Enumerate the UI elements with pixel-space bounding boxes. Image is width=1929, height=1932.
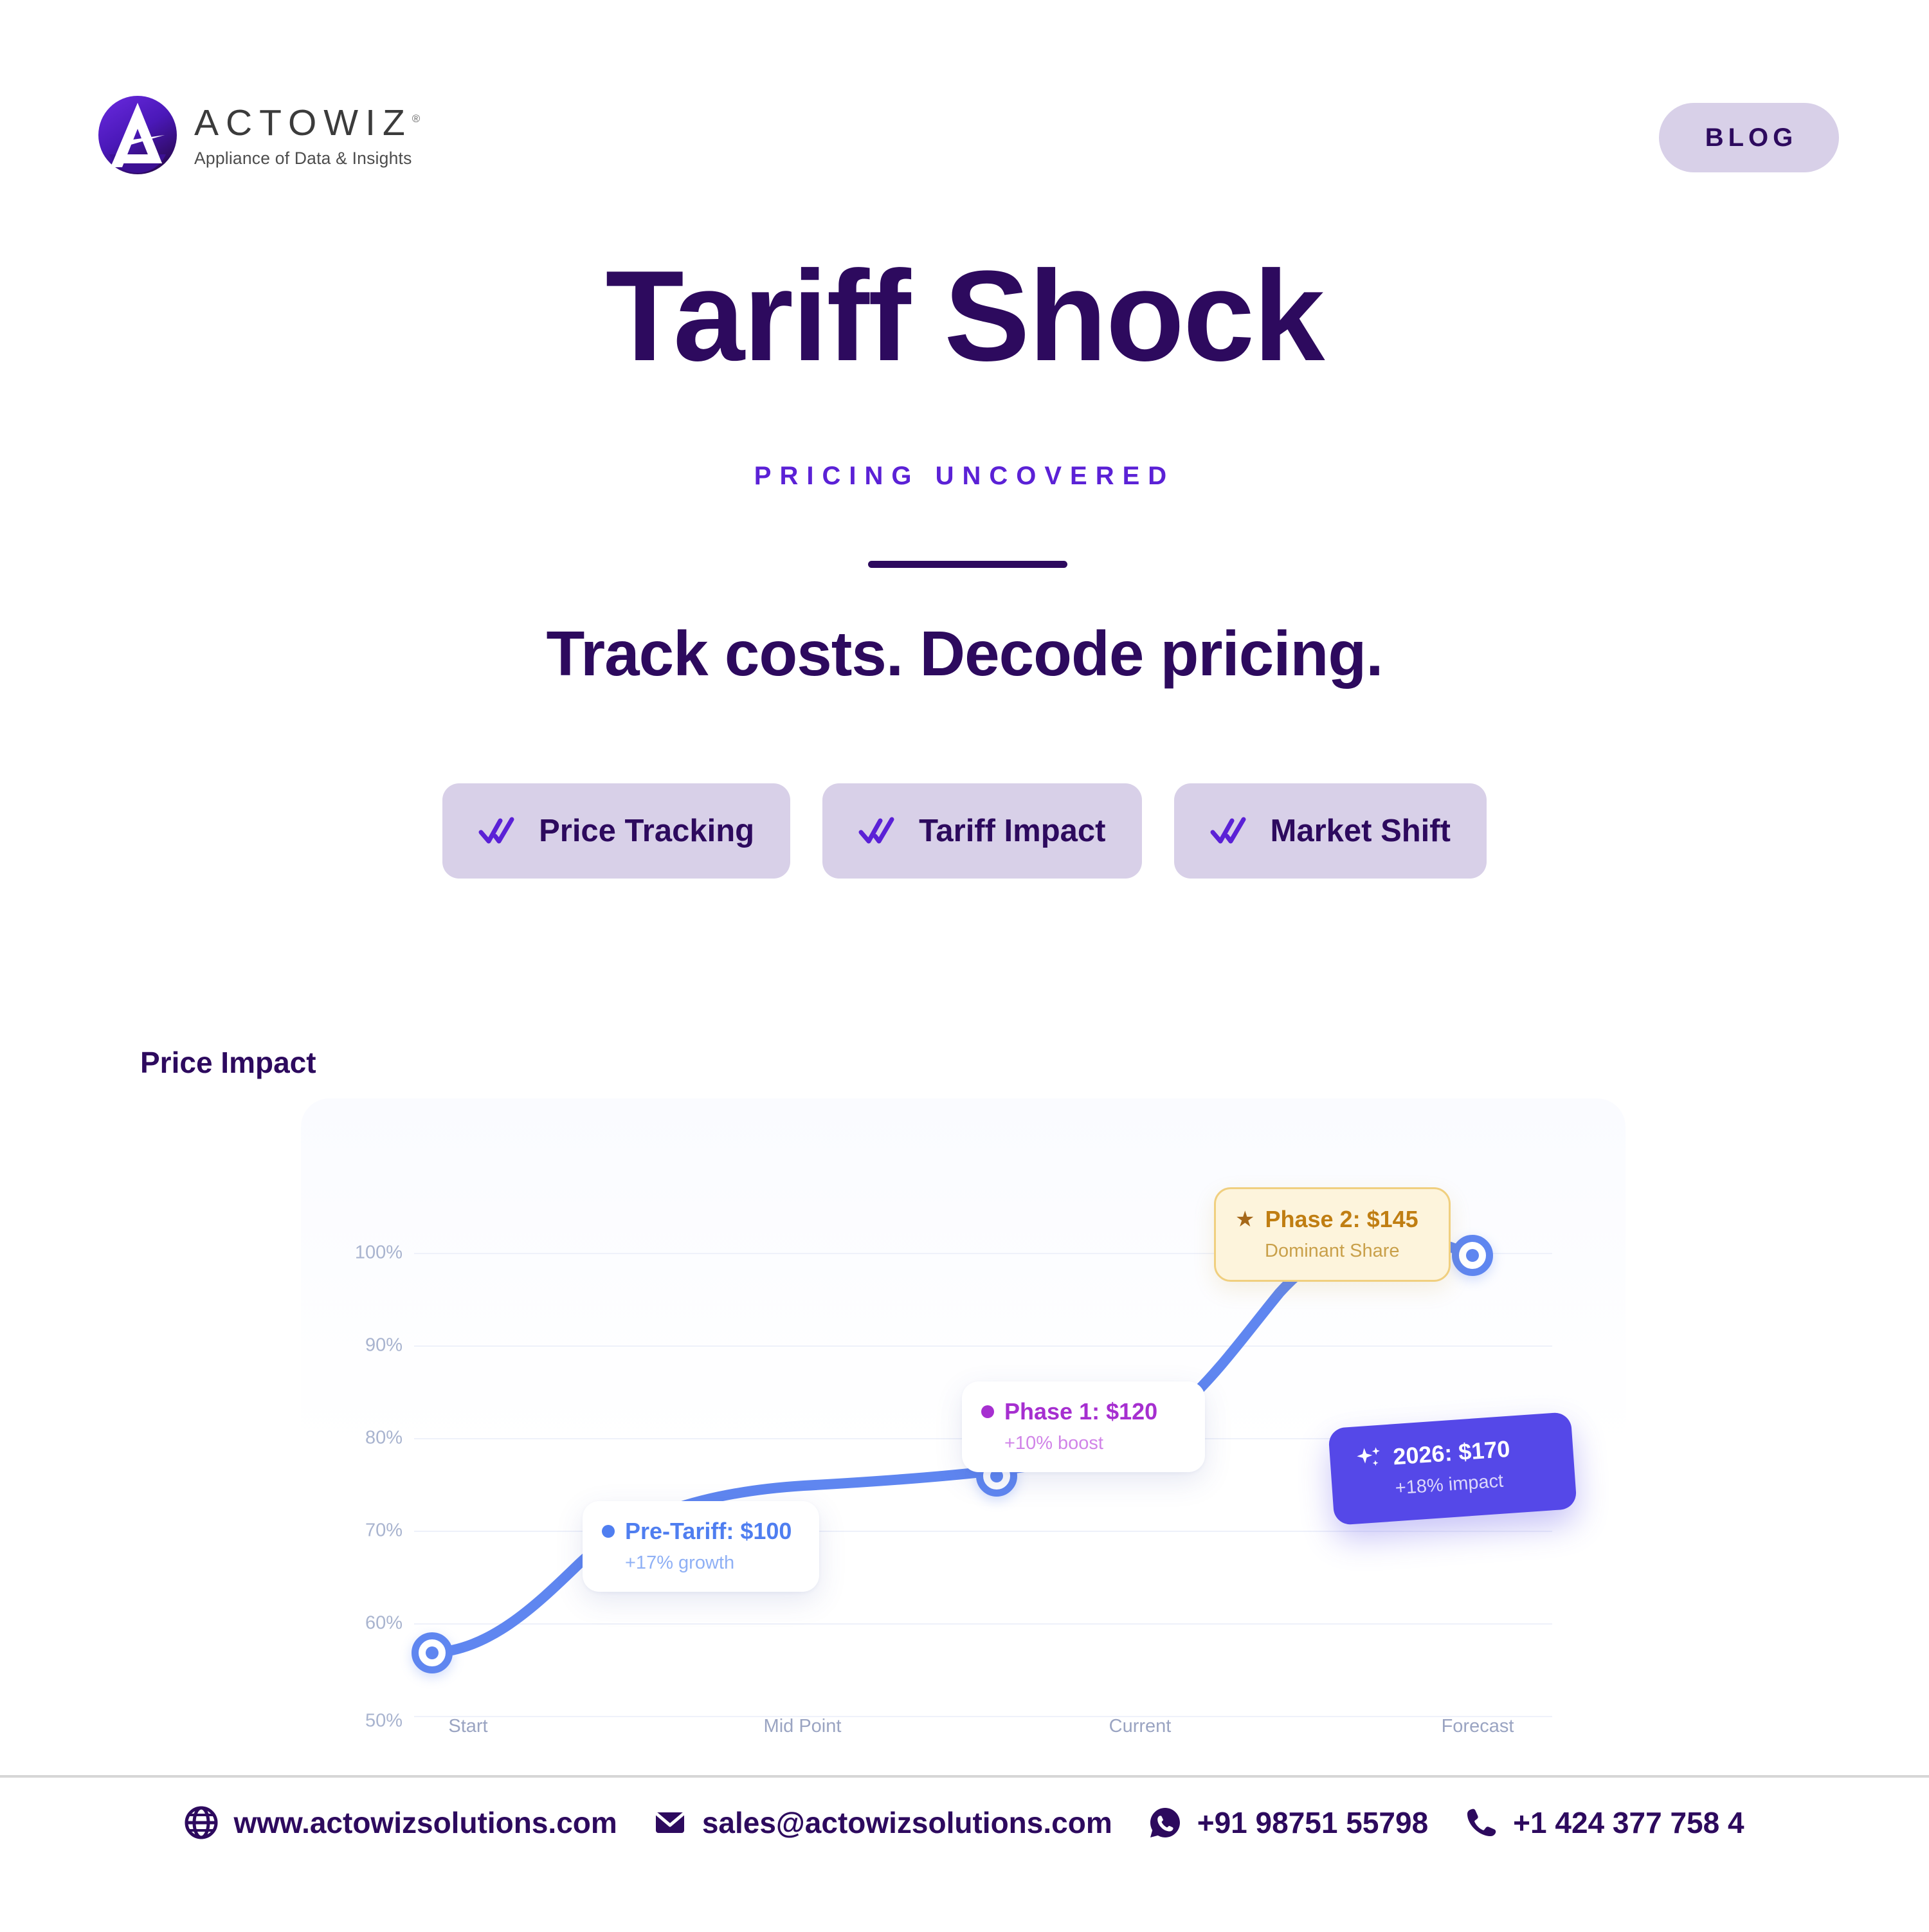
annotation-phase-2[interactable]: ★ Phase 2: $145 Dominant Share [1214, 1187, 1451, 1282]
actowiz-logo[interactable]: ACTOWIZ® Appliance of Data & Insights [98, 95, 420, 175]
footer-whatsapp-text: +91 98751 55798 [1197, 1805, 1428, 1840]
actowiz-a-logo-icon [98, 95, 177, 175]
feature-pill-label: Price Tracking [539, 813, 754, 849]
annotation-sub: Dominant Share [1265, 1241, 1427, 1262]
feature-pill-label: Market Shift [1271, 813, 1451, 849]
x-tick-label-midpoint: Mid Point [764, 1716, 842, 1737]
hero-divider [868, 561, 1067, 568]
whatsapp-icon [1148, 1806, 1182, 1839]
y-tick-label-60: 60% [332, 1613, 403, 1634]
feature-pill-list: Price Tracking Tariff Impact Market Shif… [0, 783, 1929, 879]
y-tick-label-100: 100% [332, 1243, 403, 1264]
globe-icon [185, 1806, 218, 1839]
annotation-dot-icon [981, 1405, 994, 1418]
gridline-50 [414, 1716, 1552, 1717]
annotation-title: Phase 2: $145 [1265, 1206, 1418, 1233]
footer-whatsapp[interactable]: +91 98751 55798 [1148, 1805, 1428, 1840]
x-tick-label-start: Start [448, 1716, 487, 1737]
feature-pill-label: Tariff Impact [919, 813, 1105, 849]
annotation-sub: +10% boost [1004, 1433, 1183, 1454]
annotation-title: Pre-Tariff: $100 [625, 1518, 792, 1545]
page-header: ACTOWIZ® Appliance of Data & Insights BL… [0, 0, 1929, 193]
footer-website-text: www.actowizsolutions.com [233, 1805, 617, 1840]
phone-icon [1464, 1806, 1498, 1839]
y-tick-label-70: 70% [332, 1520, 403, 1542]
feature-pill-market-shift[interactable]: Market Shift [1174, 783, 1487, 879]
logo-word-text: ACTOWIZ [194, 102, 412, 143]
annotation-2026-forecast[interactable]: 2026: $170 +18% impact [1328, 1412, 1577, 1526]
double-check-icon [1210, 816, 1251, 846]
chart-title: Price Impact [140, 1045, 316, 1080]
feature-pill-price-tracking[interactable]: Price Tracking [442, 783, 790, 879]
annotation-pre-tariff[interactable]: Pre-Tariff: $100 +17% growth [583, 1501, 819, 1592]
data-point-start[interactable] [412, 1632, 453, 1673]
footer-email-text: sales@actowizsolutions.com [702, 1805, 1112, 1840]
data-point-forecast[interactable] [1452, 1235, 1493, 1276]
logo-wordmark: ACTOWIZ® [194, 105, 420, 141]
footer-phone-text: +1 424 377 758 4 [1513, 1805, 1744, 1840]
page-footer: www.actowizsolutions.com sales@actowizso… [0, 1775, 1929, 1932]
blog-button[interactable]: BLOG [1659, 103, 1839, 172]
envelope-icon [653, 1806, 687, 1839]
double-check-icon [858, 816, 900, 846]
page-title: Tariff Shock [0, 252, 1929, 381]
x-tick-label-current: Current [1109, 1716, 1172, 1737]
y-tick-label-90: 90% [332, 1335, 403, 1356]
footer-email[interactable]: sales@actowizsolutions.com [653, 1805, 1112, 1840]
gridline-90 [414, 1345, 1552, 1347]
trademark-icon: ® [412, 113, 421, 125]
annotation-title: Phase 1: $120 [1004, 1398, 1157, 1425]
hero-kicker: PRICING UNCOVERED [0, 462, 1929, 491]
y-tick-label-80: 80% [332, 1428, 403, 1449]
logo-tagline: Appliance of Data & Insights [194, 149, 420, 169]
footer-phone[interactable]: +1 424 377 758 4 [1464, 1805, 1744, 1840]
annotation-sub: +18% impact [1395, 1468, 1539, 1499]
annotation-phase-1[interactable]: Phase 1: $120 +10% boost [962, 1381, 1205, 1472]
annotation-sub: +17% growth [625, 1553, 797, 1574]
annotation-title: 2026: $170 [1392, 1435, 1511, 1471]
star-icon: ★ [1235, 1208, 1254, 1230]
hero-subtitle: Track costs. Decode pricing. [0, 617, 1929, 690]
annotation-dot-icon [602, 1525, 615, 1538]
double-check-icon [478, 816, 520, 846]
y-tick-label-50: 50% [332, 1711, 403, 1732]
sparkle-icon [1355, 1444, 1384, 1473]
feature-pill-tariff-impact[interactable]: Tariff Impact [822, 783, 1141, 879]
x-tick-label-forecast: Forecast [1442, 1716, 1514, 1737]
gridline-60 [414, 1623, 1552, 1625]
footer-website[interactable]: www.actowizsolutions.com [185, 1805, 617, 1840]
